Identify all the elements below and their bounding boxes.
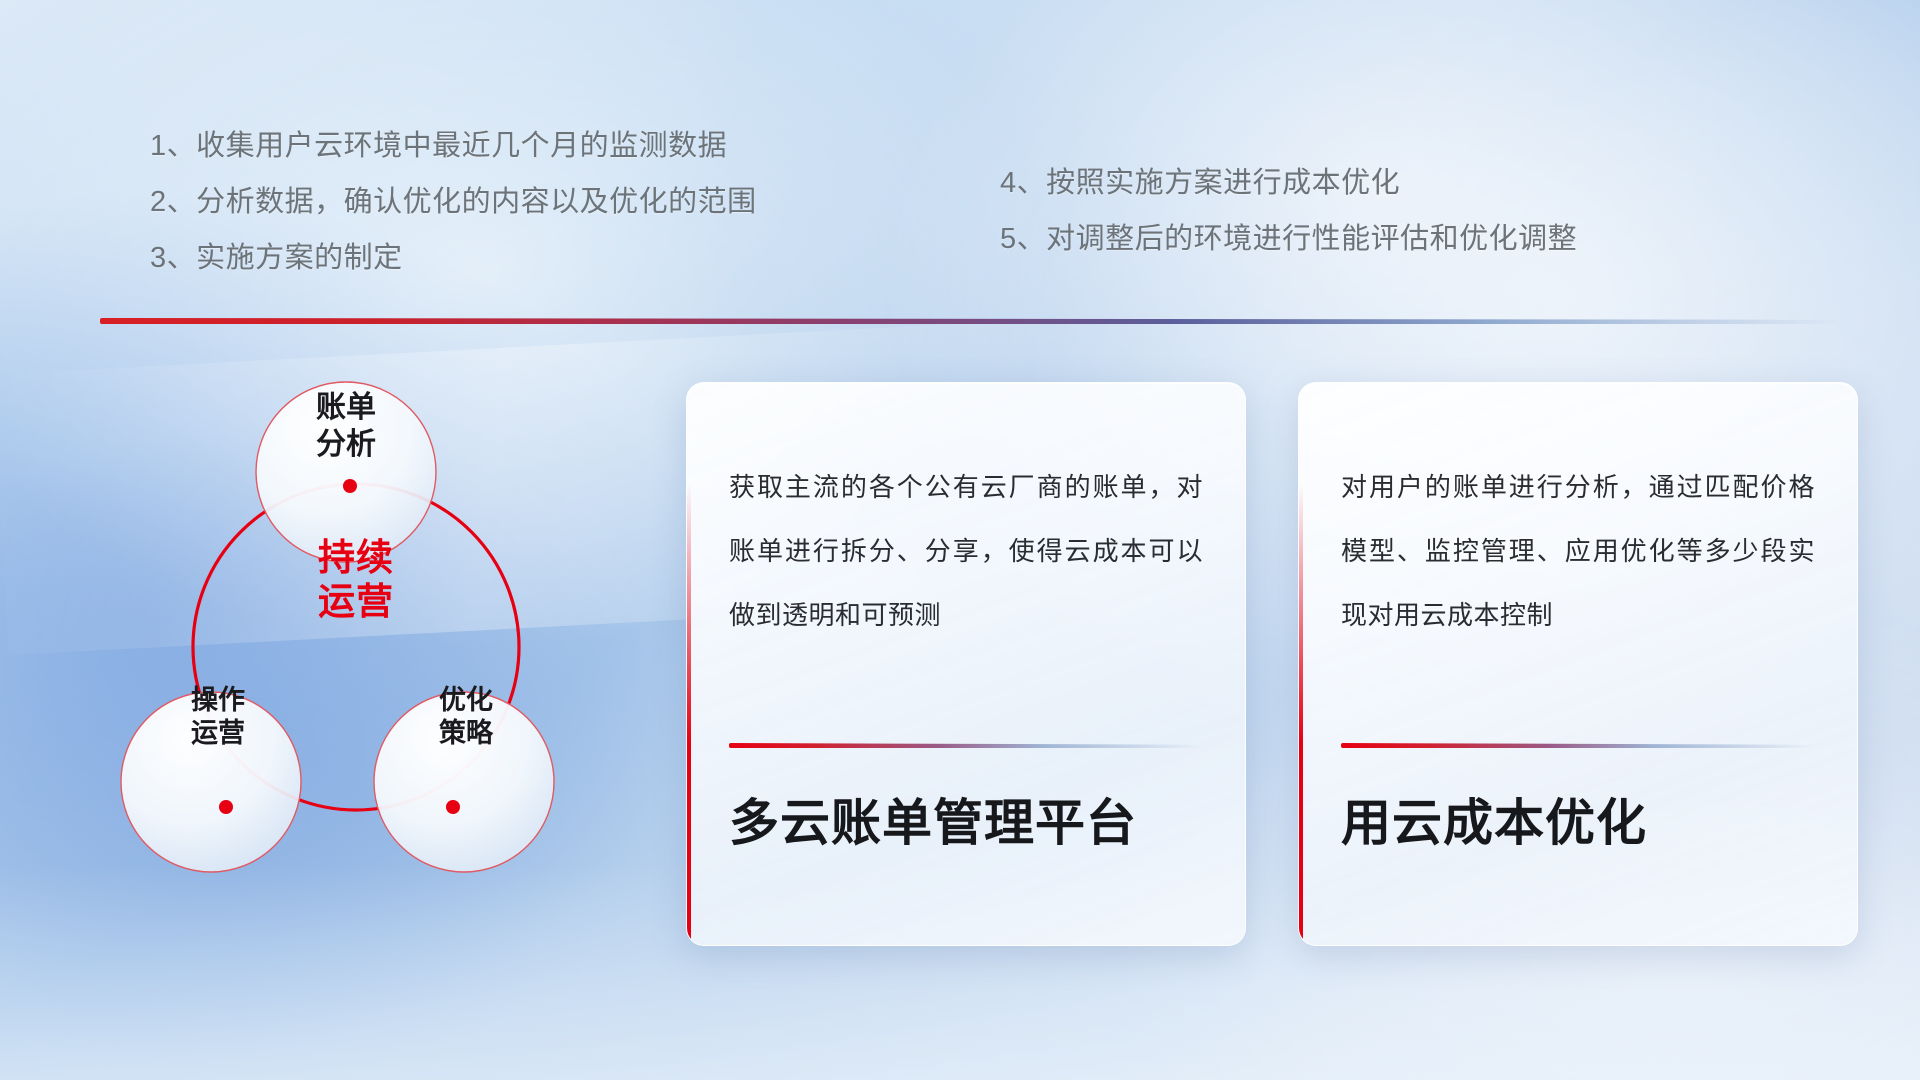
card-cloud-cost-optimization-title: 用云成本优化 (1341, 783, 1827, 855)
step-item-3: 3、实施方案的制定 (150, 230, 757, 286)
card-cloud-cost-optimization-body: 对用户的账单进行分析，通过匹配价格模型、监控管理、应用优化等多少段实现对用云成本… (1341, 455, 1815, 647)
card-multi-cloud-billing[interactable]: 获取主流的各个公有云厂商的账单，对账单进行拆分、分享，使得云成本可以做到透明和可… (686, 382, 1246, 946)
card-multi-cloud-billing-separator (729, 743, 1203, 748)
venn-node-dot-bottom-left (219, 800, 233, 814)
steps-left-column: 1、收集用户云环境中最近几个月的监测数据 2、分析数据，确认优化的内容以及优化的… (150, 118, 757, 286)
card-cloud-cost-optimization[interactable]: 对用户的账单进行分析，通过匹配价格模型、监控管理、应用优化等多少段实现对用云成本… (1298, 382, 1858, 946)
venn-diagram-svg (96, 352, 616, 952)
venn-diagram: 账单 分析 操作 运营 优化 策略 持续 运营 (96, 352, 616, 952)
card-multi-cloud-billing-title: 多云账单管理平台 (729, 783, 1215, 855)
step-item-5: 5、对调整后的环境进行性能评估和优化调整 (1000, 211, 1577, 267)
step-item-4: 4、按照实施方案进行成本优化 (1000, 155, 1577, 211)
card-multi-cloud-billing-body: 获取主流的各个公有云厂商的账单，对账单进行拆分、分享，使得云成本可以做到透明和可… (729, 455, 1203, 647)
card-cloud-cost-optimization-separator (1341, 743, 1815, 748)
venn-bubble-optimization-strategy[interactable] (374, 692, 554, 872)
steps-right-column: 4、按照实施方案进行成本优化 5、对调整后的环境进行性能评估和优化调整 (1000, 155, 1577, 267)
venn-bubble-operations[interactable] (121, 692, 301, 872)
step-item-1: 1、收集用户云环境中最近几个月的监测数据 (150, 118, 757, 174)
venn-node-dot-top (343, 479, 357, 493)
venn-node-dot-bottom-right (446, 800, 460, 814)
venn-bubble-billing-analysis[interactable] (256, 382, 436, 562)
step-item-2: 2、分析数据，确认优化的内容以及优化的范围 (150, 174, 757, 230)
